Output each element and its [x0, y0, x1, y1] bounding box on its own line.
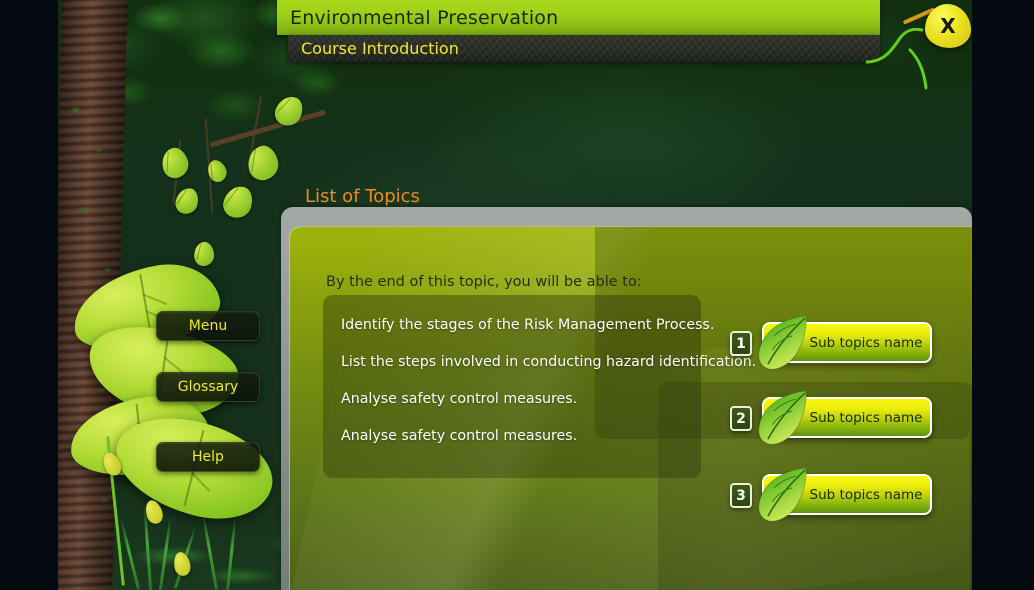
- letterbox-right: [972, 0, 1034, 590]
- subtopic-number-badge: 2: [730, 406, 752, 431]
- sidebar-item-label: Glossary: [178, 379, 239, 395]
- section-title-bar: Course Introduction: [288, 35, 880, 62]
- subtopic-label: Sub topics name: [772, 487, 923, 503]
- close-x-label: X: [925, 4, 971, 48]
- sidebar-item-help[interactable]: Help: [156, 442, 260, 472]
- letterbox-left: [0, 0, 58, 590]
- objective-item: Analyse safety control measures.: [341, 428, 683, 444]
- objective-item: List the steps involved in conducting ha…: [341, 354, 683, 370]
- page-title-text: List of Topics: [305, 186, 420, 207]
- course-title-bar: Environmental Preservation: [277, 0, 880, 35]
- subtopic-pill[interactable]: Sub topics name: [762, 474, 932, 515]
- page-title: List of Topics: [305, 186, 420, 207]
- sidebar-item-menu[interactable]: Menu: [156, 311, 260, 341]
- sidebar-item-glossary[interactable]: Glossary: [156, 372, 260, 402]
- subtopic-number-badge: 1: [730, 331, 752, 356]
- subtopic-pill[interactable]: Sub topics name: [762, 322, 932, 363]
- close-leaf-icon[interactable]: X: [925, 4, 971, 48]
- content-panel: By the end of this topic, you will be ab…: [289, 226, 972, 590]
- section-title: Course Introduction: [288, 39, 459, 58]
- course-title: Environmental Preservation: [277, 7, 558, 29]
- subtopic-number-badge: 3: [730, 483, 752, 508]
- objective-item: Identify the stages of the Risk Manageme…: [341, 317, 683, 333]
- objective-item: Analyse safety control measures.: [341, 391, 683, 407]
- subtopic-label: Sub topics name: [772, 335, 923, 351]
- subtopic-label: Sub topics name: [772, 410, 923, 426]
- small-leaf: [192, 241, 215, 268]
- objectives-box: Identify the stages of the Risk Manageme…: [323, 295, 701, 478]
- intro-text: By the end of this topic, you will be ab…: [326, 274, 642, 290]
- app-window: Environmental Preservation Course Introd…: [0, 0, 1034, 590]
- sidebar-item-label: Menu: [189, 318, 227, 334]
- subtopic-pill[interactable]: Sub topics name: [762, 397, 932, 438]
- sidebar-item-label: Help: [192, 449, 224, 465]
